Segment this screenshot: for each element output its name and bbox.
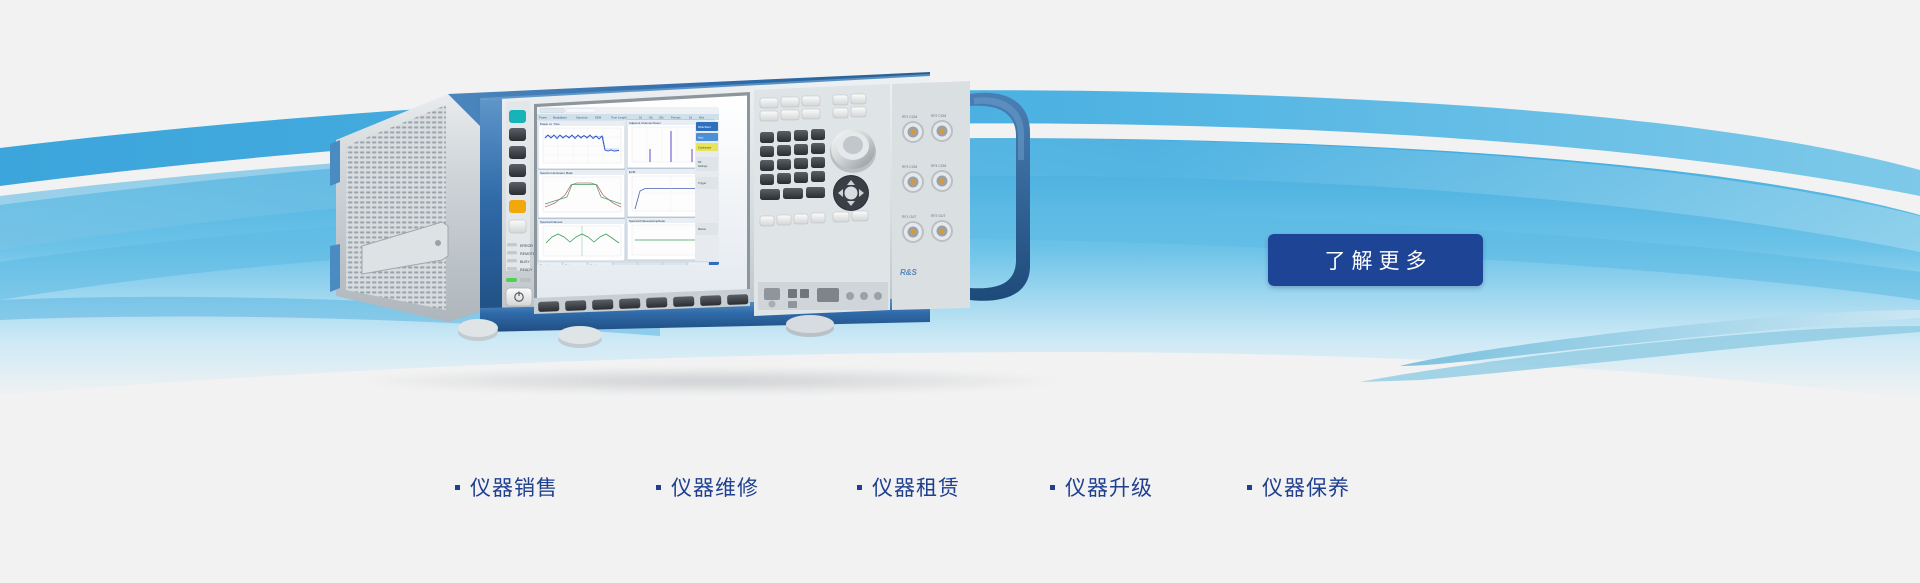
svg-text:Spectrum: Spectrum: [576, 115, 589, 119]
svg-text:Spectrum Emission Mask: Spectrum Emission Mask: [540, 171, 573, 175]
chassis-side-panel: [330, 94, 480, 322]
svg-text:Settings: Settings: [698, 164, 708, 168]
key-preset: [509, 110, 526, 123]
learn-more-label: 了解更多: [1319, 245, 1433, 275]
svg-text:Continuous: Continuous: [698, 145, 712, 149]
io-port-row: [758, 282, 888, 310]
svg-text:RF1 OUT: RF1 OUT: [902, 215, 917, 219]
svg-text:Marker: Marker: [698, 227, 706, 231]
svg-text:16: 16: [689, 115, 693, 119]
svg-text:Time Length: Time Length: [611, 115, 627, 119]
bullet-icon: [1247, 485, 1252, 490]
svg-text:20k: 20k: [659, 115, 664, 119]
lan-port: [764, 288, 780, 300]
svg-text:Adjacent Channel Power: Adjacent Channel Power: [629, 121, 661, 125]
key-print: [509, 182, 526, 195]
svg-text:REMOTE: REMOTE: [520, 252, 536, 256]
instrument-screen: PowerModulation SpectrumSEM Time Length1…: [534, 92, 750, 308]
service-item-maintenance[interactable]: 仪器保养: [1247, 472, 1350, 502]
rf-connector: [931, 120, 953, 142]
svg-text:Mhz: Mhz: [699, 115, 705, 119]
rf-connector: [931, 220, 953, 242]
service-label: 仪器维修: [671, 472, 759, 502]
svg-text:READY: READY: [520, 268, 533, 272]
svg-text:RF2 COM: RF2 COM: [931, 114, 946, 118]
svg-text:Spectral Flatness/Amplitude: Spectral Flatness/Amplitude: [629, 219, 665, 223]
svg-text:RF2 OUT: RF2 OUT: [931, 214, 946, 218]
svg-text:EVM: EVM: [629, 170, 636, 174]
usb-port: [800, 289, 809, 298]
svg-text:SEM: SEM: [595, 115, 602, 119]
svg-text:ERROR: ERROR: [520, 244, 533, 248]
svg-text:Trigger: Trigger: [698, 181, 706, 185]
bullet-icon: [455, 485, 460, 490]
service-label: 仪器保养: [1262, 472, 1350, 502]
rf-connector-bank: RF1 COMRF2 COM RF3 COMRF4 COM RF1 OUTRF2…: [892, 81, 970, 310]
svg-text:Power vs. Time: Power vs. Time: [540, 122, 560, 126]
service-item-repair[interactable]: 仪器维修: [656, 472, 759, 502]
rf-connector: [902, 221, 924, 243]
svg-text:Periods: Periods: [671, 115, 681, 119]
learn-more-button[interactable]: 了解更多: [1268, 234, 1483, 286]
rf-connector: [902, 121, 924, 143]
svg-text:Spectral Flatness: Spectral Flatness: [540, 220, 563, 224]
service-label: 仪器销售: [470, 472, 558, 502]
key-help: [509, 200, 526, 213]
hero-banner: ROHDE & SCHWARZ CMW 500 · WIDEBAND RADIO…: [0, 0, 1920, 583]
service-label: 仪器租赁: [872, 472, 960, 502]
rf-connector: [902, 171, 924, 193]
service-item-upgrade[interactable]: 仪器升级: [1050, 472, 1153, 502]
bullet-icon: [656, 485, 661, 490]
svg-text:Power: Power: [539, 115, 547, 119]
navigation-pad: [833, 175, 869, 211]
key-menu: [509, 128, 526, 141]
rf-connector: [931, 170, 953, 192]
svg-text:RF: RF: [698, 160, 702, 164]
svg-text:Modulation: Modulation: [553, 115, 567, 119]
instrument-image-cmw500: ROHDE & SCHWARZ CMW 500 · WIDEBAND RADIO…: [330, 60, 1130, 380]
svg-text:BUSY: BUSY: [520, 260, 530, 264]
key-save-rcl: [509, 146, 526, 159]
svg-text:RF1 COM: RF1 COM: [902, 115, 917, 119]
svg-text:16: 16: [639, 115, 643, 119]
usb-port: [788, 289, 797, 298]
svg-text:Wide Band: Wide Band: [698, 125, 711, 129]
svg-text:R&S: R&S: [900, 268, 918, 277]
svg-text:Auto: Auto: [698, 135, 704, 139]
carry-handle: [970, 93, 1030, 301]
bullet-icon: [1050, 485, 1055, 490]
service-item-sales[interactable]: 仪器销售: [455, 472, 558, 502]
service-list: 仪器销售 仪器维修 仪器租赁 仪器升级 仪器保养: [455, 467, 1455, 507]
rotary-knob: [830, 129, 876, 173]
service-label: 仪器升级: [1065, 472, 1153, 502]
svg-text:RF4 COM: RF4 COM: [931, 164, 946, 168]
service-item-rental[interactable]: 仪器租赁: [857, 472, 960, 502]
bullet-icon: [857, 485, 862, 490]
svg-text:WL: WL: [649, 115, 654, 119]
key-sys: [509, 220, 526, 233]
key-setup: [509, 164, 526, 177]
svg-text:RF3 COM: RF3 COM: [902, 165, 917, 169]
keypad-block: [754, 84, 890, 316]
